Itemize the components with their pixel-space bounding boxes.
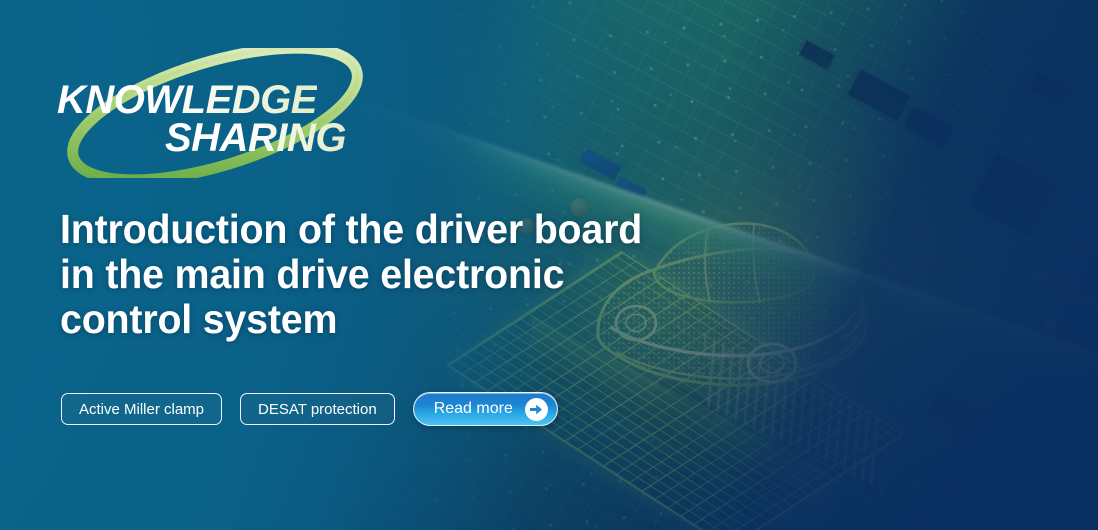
read-more-label: Read more	[434, 400, 513, 418]
headline-line-1: Introduction of the driver board	[60, 207, 770, 252]
action-row: Active Miller clamp DESAT protection Rea…	[61, 392, 558, 426]
headline-line-3: control system	[60, 297, 770, 342]
page-title: Introduction of the driver board in the …	[60, 207, 770, 342]
knowledge-sharing-banner: N NOVOSENSE 纳芯微	[0, 0, 1098, 530]
tag-active-miller-clamp[interactable]: Active Miller clamp	[61, 393, 222, 425]
read-more-button[interactable]: Read more	[413, 392, 558, 426]
headline-line-2: in the main drive electronic	[60, 252, 770, 297]
logo-line-sharing: SHARING	[165, 116, 346, 161]
tag-desat-protection[interactable]: DESAT protection	[240, 393, 395, 425]
arrow-right-icon	[525, 398, 548, 421]
knowledge-sharing-logo: KNOWLEDGE SHARING	[45, 48, 385, 178]
